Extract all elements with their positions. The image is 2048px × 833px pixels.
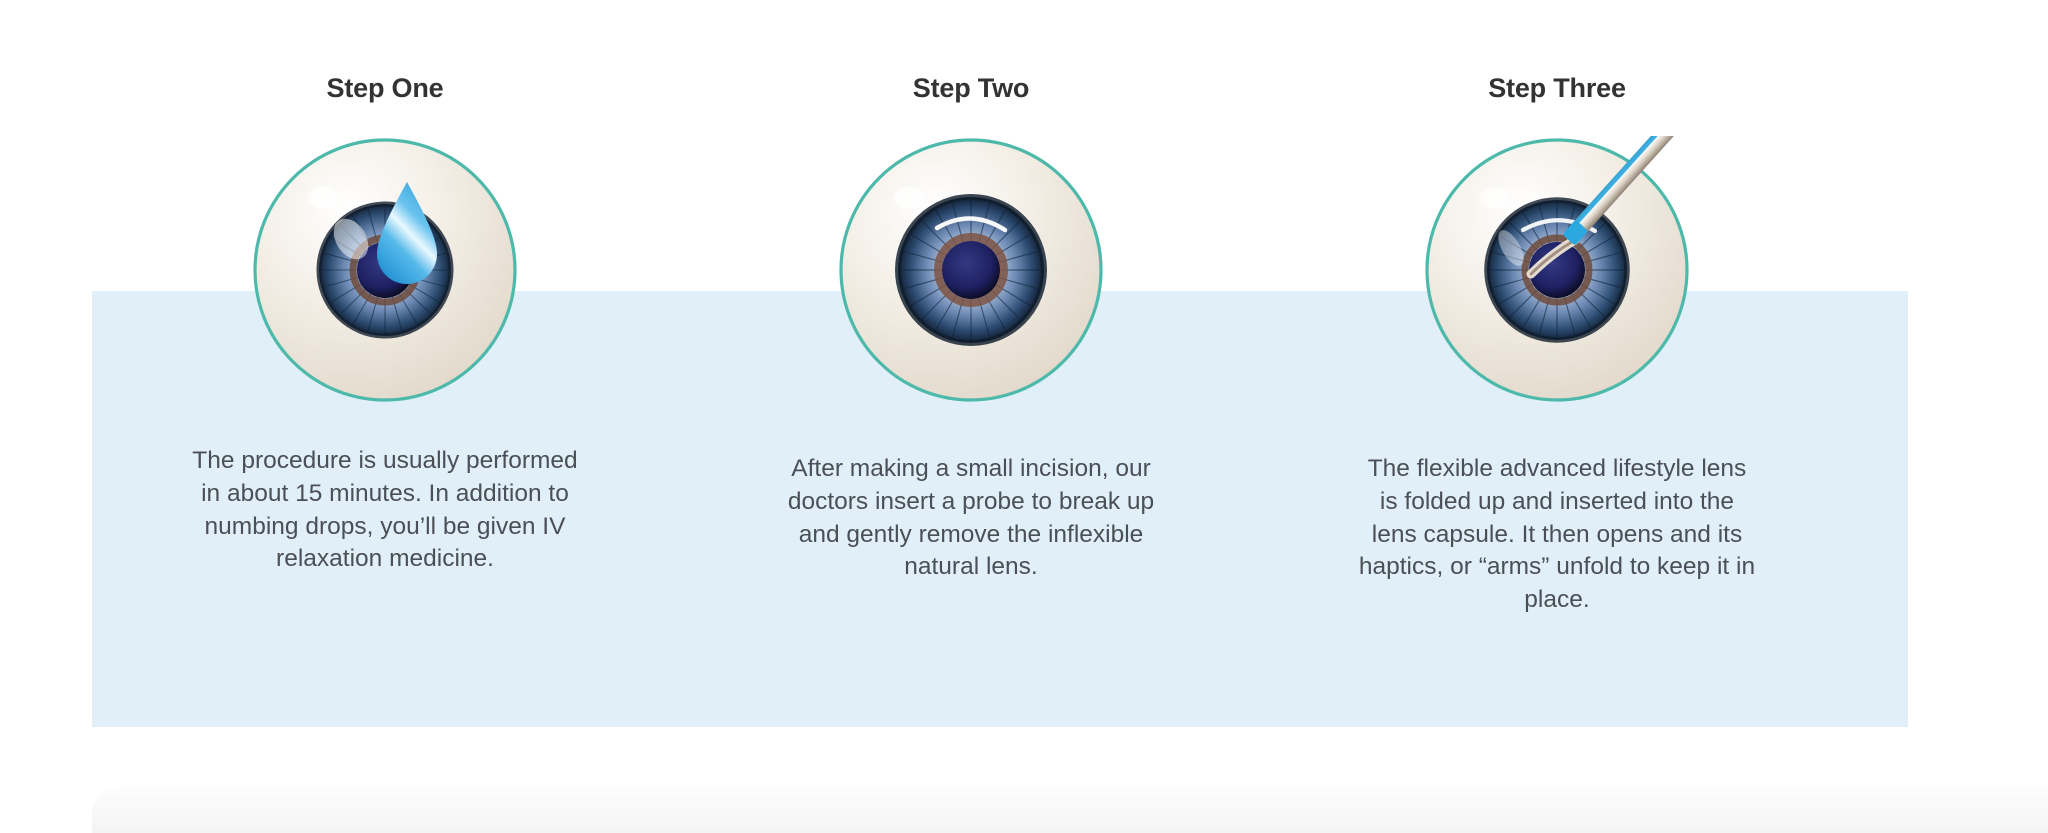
step-two-title: Step Two xyxy=(913,75,1029,102)
step-three-body: The flexible advanced lifestyle lens is … xyxy=(1357,453,1757,617)
step-three-title: Step Three xyxy=(1488,75,1626,102)
eye-with-drop-icon xyxy=(251,136,519,404)
eye-with-lens-injector-icon xyxy=(1423,136,1691,404)
step-one-body: The procedure is usually performed in ab… xyxy=(189,445,581,576)
step-one-title: Step One xyxy=(327,75,444,102)
step-card-three: Step Three xyxy=(1264,0,1850,833)
step-card-one: Step One xyxy=(92,0,678,833)
steps-columns: Step One xyxy=(0,0,2048,833)
steps-section: Step One xyxy=(0,0,2048,833)
step-two-body: After making a small incision, our docto… xyxy=(771,453,1171,584)
eye-with-incision-icon xyxy=(837,136,1105,404)
step-card-two: Step Two xyxy=(678,0,1264,833)
